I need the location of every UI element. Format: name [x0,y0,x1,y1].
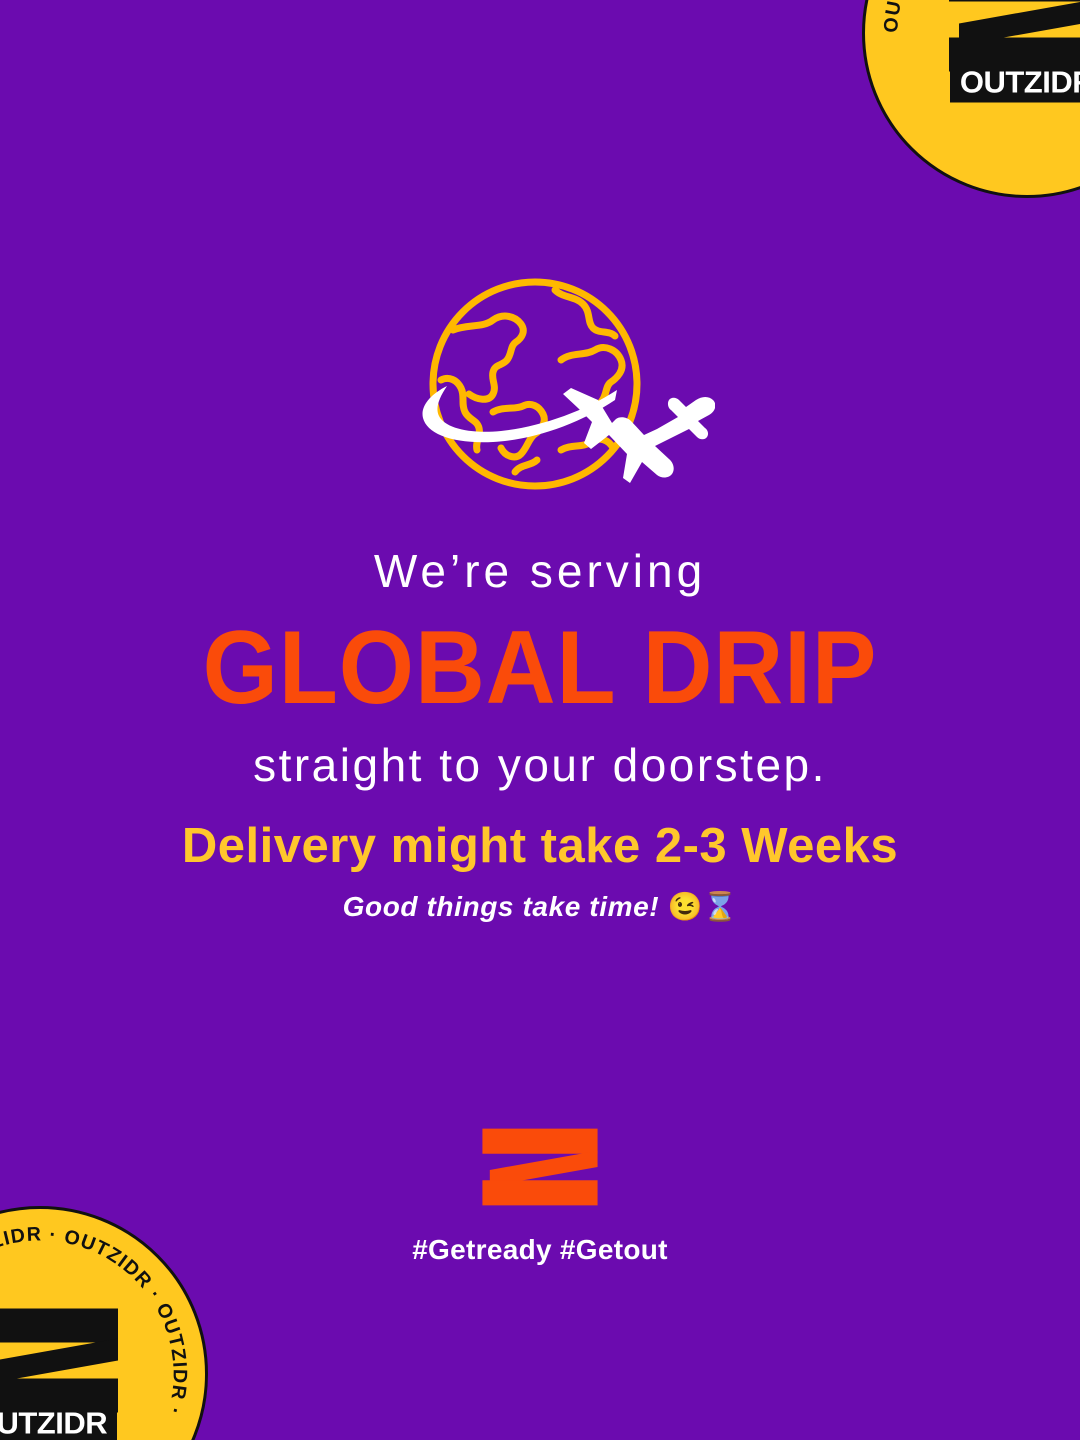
badge-core-bottom-left: OUTZIDR [0,1305,138,1440]
eyebrow-text: We’re serving [0,548,1080,594]
poster-canvas: OUTZIDR · OUTZIDR · OUTZIDR · OUTZIDR · … [0,0,1080,1440]
subline-text: straight to your doorstep. [0,742,1080,788]
footer-block: #Getready #Getout [0,1122,1080,1264]
delivery-notice-block: Delivery might take 2-3 Weeks Good thing… [0,822,1080,921]
badge-wordmark: OUTZIDR [950,64,1080,103]
hourglass-icon: ⌛ [702,891,737,922]
badge-core-top-right: OUTZIDR [929,0,1080,103]
badge-wordmark: OUTZIDR [0,1405,117,1440]
outzidr-z-logo-icon [478,1122,602,1212]
outzidr-badge-top-right: OUTZIDR · OUTZIDR · OUTZIDR · OUTZIDR · … [862,0,1080,198]
outzidr-z-icon [0,1305,124,1417]
winking-face-icon: 😉 [668,891,703,922]
reassurance-line: Good things take time! 😉⌛ [0,893,1080,921]
illustration-container [0,272,1080,512]
hashtags-text: #Getready #Getout [0,1236,1080,1264]
globe-icon [433,282,637,486]
headline-block: We’re serving GLOBAL DRIP straight to yo… [0,548,1080,788]
page-title: GLOBAL DRIP [38,616,1042,720]
globe-airplane-illustration [365,272,715,512]
delivery-notice-text: Delivery might take 2-3 Weeks [0,822,1080,871]
reassurance-text: Good things take time! [343,891,660,922]
